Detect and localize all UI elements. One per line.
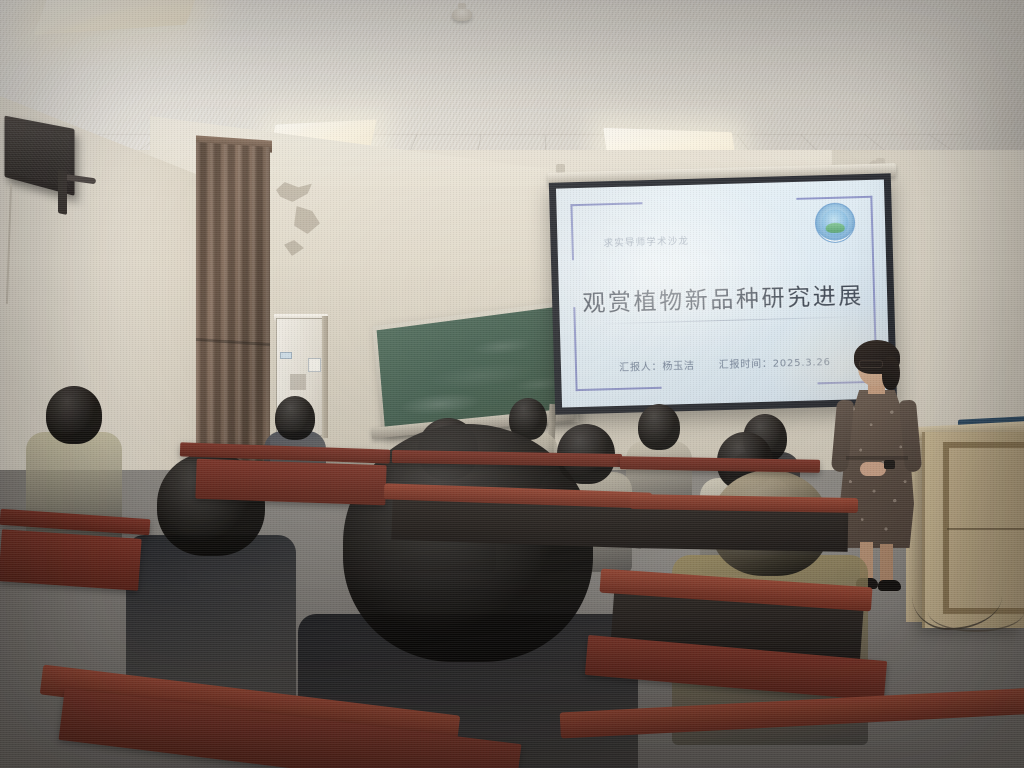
slide-title-rule [604,317,848,325]
attendee-head [46,386,102,444]
glasses-icon [859,360,883,368]
smoke-detector-icon [452,8,472,21]
presenter-watch [884,460,895,469]
slide-date-label: 汇报时间：2025.3.26 [719,357,831,371]
cabinet-label [280,352,292,359]
lecture-hall-photo: 求实导师学术沙龙 观赏植物新品种研究进展 汇报人：杨玉洁 汇报时间：2025.3… [0,0,1024,768]
presenter-leg-right [880,544,893,582]
slide-presenter-label: 汇报人：杨玉洁 [619,361,695,374]
slide-frame-accent [796,196,872,200]
presenter-waistline [846,456,908,460]
university-emblem-icon [815,202,856,243]
podium-panel-seam [947,528,1024,530]
attendee-head [638,404,680,450]
slide-subtitle: 求实导师学术沙龙 [603,233,689,249]
slide-frame-accent [570,204,574,260]
presenter-shoe-right [878,580,901,591]
slide-frame-accent [570,202,642,206]
slide-title: 观赏植物新品种研究进展 [559,275,888,318]
bench-row-back-seat[interactable] [195,459,386,506]
speaker-bracket [58,169,67,215]
slide-frame-accent [576,387,662,391]
slide-frame-accent [870,196,876,346]
cabinet-panel [290,374,306,390]
presenter-hair-back [882,356,900,390]
bench-left-front-seat[interactable] [0,529,142,591]
slide-frame-accent [573,307,577,391]
cabinet-label [308,358,321,372]
